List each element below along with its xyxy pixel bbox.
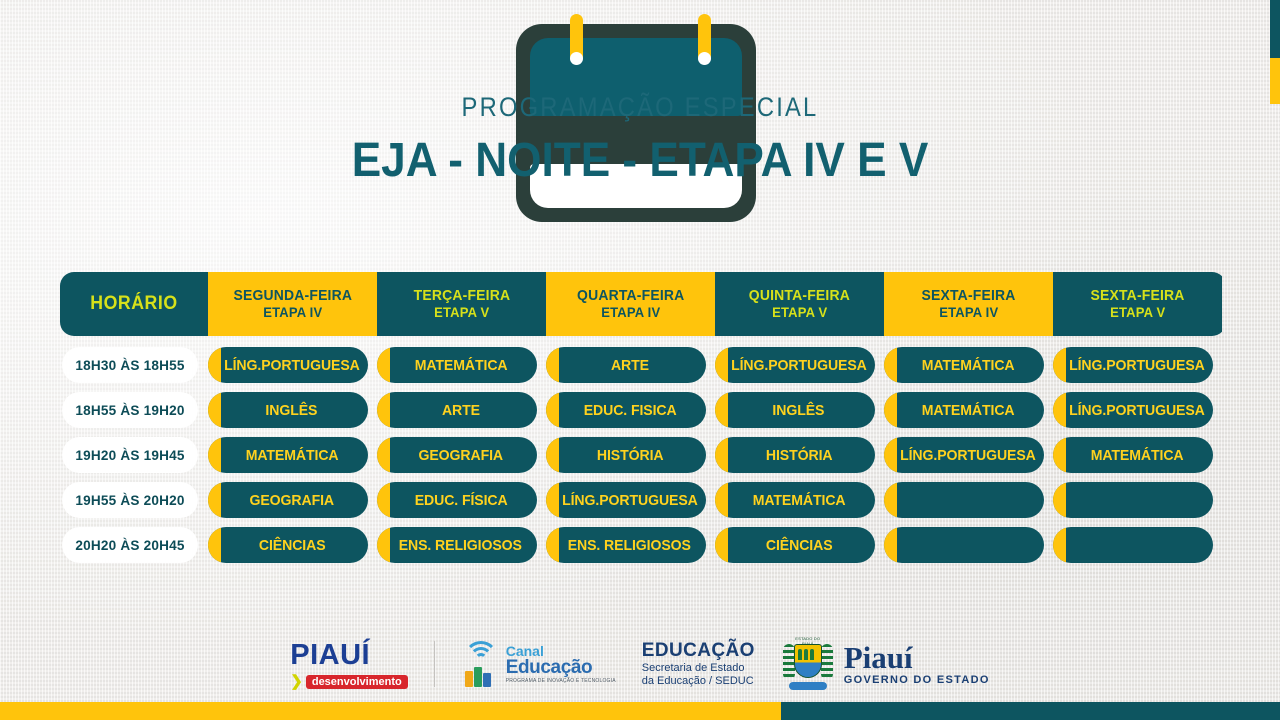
header-cell-terca: TERÇA-FEIRA ETAPA V (377, 272, 546, 336)
table-row: 18H30 ÀS 18H55 LÍNG.PORTUGUESA MATEMÁTIC… (60, 347, 1226, 383)
spiral-hole-right-icon (698, 52, 711, 65)
time-slot: 18H30 ÀS 18H55 (62, 347, 198, 383)
subject-label: GEOGRAFIA (242, 492, 334, 509)
subject-cell: ARTE (546, 347, 706, 383)
subject-label: CIÊNCIAS (251, 537, 325, 554)
subject-cell: LÍNG.PORTUGUESA (1053, 347, 1213, 383)
header-time-label: HORÁRIO (90, 293, 177, 314)
seduc-line3: da Educação / SEDUC (642, 675, 755, 688)
subtitle: PROGRAMAÇÃO ESPECIAL (77, 92, 1203, 123)
subject-cell: MATEMÁTICA (884, 347, 1044, 383)
palm-icon (804, 649, 808, 660)
logo-canal-educacao: Canal Educação PROGRAMA DE INOVAÇÃO E TE… (461, 641, 616, 687)
subject-cell: EDUC. FISICA (546, 392, 706, 428)
bottom-bar-yellow (0, 702, 781, 720)
seduc-line2: Secretaria de Estado (642, 662, 755, 675)
time-slot: 18H55 ÀS 19H20 (62, 392, 198, 428)
book-green-icon (474, 667, 482, 687)
edge-accent-teal (1270, 0, 1280, 58)
canal-line1: Canal (506, 644, 616, 658)
subject-label: ENS. RELIGIOSOS (392, 537, 523, 554)
subject-cell: GEOGRAFIA (377, 437, 537, 473)
seduc-line1: EDUCAÇÃO (642, 640, 755, 662)
governo-sub: GOVERNO DO ESTADO (844, 675, 990, 686)
subject-cell: MATEMÁTICA (1053, 437, 1213, 473)
subject-label: MATEMÁTICA (745, 492, 845, 509)
subject-label: MATEMÁTICA (1083, 447, 1183, 464)
subject-cell: INGLÊS (715, 392, 875, 428)
schedule-table: HORÁRIO SEGUNDA-FEIRA ETAPA IV TERÇA-FEI… (60, 272, 1226, 563)
subject-label: INGLÊS (765, 402, 824, 419)
subject-label: GEOGRAFIA (411, 447, 503, 464)
canal-line2: Educação (506, 658, 616, 677)
book-yellow-icon (465, 671, 473, 687)
wifi-arc-inner-icon (475, 653, 487, 665)
subject-label: LÍNG.PORTUGUESA (892, 447, 1035, 464)
table-row: 19H20 ÀS 19H45 MATEMÁTICA GEOGRAFIA HIST… (60, 437, 1226, 473)
bottom-bar-teal (781, 702, 1280, 720)
subject-cell: MATEMÁTICA (208, 437, 368, 473)
subject-cell: LÍNG.PORTUGUESA (208, 347, 368, 383)
table-row: 20H20 ÀS 20H45 CIÊNCIAS ENS. RELIGIOSOS … (60, 527, 1226, 563)
header-stage-label: ETAPA V (434, 305, 489, 321)
header-stage-label: ETAPA IV (939, 305, 998, 321)
ribbon-icon (789, 682, 827, 690)
logo-seduc: EDUCAÇÃO Secretaria de Estado da Educaçã… (642, 640, 755, 687)
subject-cell: GEOGRAFIA (208, 482, 368, 518)
palm-trees-icon (798, 649, 814, 660)
subject-cell: MATEMÁTICA (377, 347, 537, 383)
time-slot: 19H55 ÀS 20H20 (62, 482, 198, 518)
header-cell-sexta-iv: SEXTA-FEIRA ETAPA IV (884, 272, 1053, 336)
spiral-hole-left-icon (570, 52, 583, 65)
canal-wordmark: Canal Educação PROGRAMA DE INOVAÇÃO E TE… (506, 644, 616, 684)
header-stage-label: ETAPA IV (601, 305, 660, 321)
subject-cell: LÍNG.PORTUGUESA (884, 437, 1044, 473)
subject-label: ARTE (603, 357, 649, 374)
subject-label: EDUC. FISICA (576, 402, 676, 419)
subject-label: ENS. RELIGIOSOS (561, 537, 692, 554)
subject-cell-empty (884, 482, 1044, 518)
subject-label: CIÊNCIAS (758, 537, 832, 554)
subject-label: INGLÊS (258, 402, 317, 419)
logo-piaui-desenvolvimento: PIAUÍ ❯ desenvolvimento (290, 639, 407, 689)
footer-divider (434, 641, 435, 687)
subject-cell: EDUC. FÍSICA (377, 482, 537, 518)
header-cell-sexta-v: SEXTA-FEIRA ETAPA V (1053, 272, 1222, 336)
subject-label: HISTÓRIA (589, 447, 663, 464)
palm-icon (798, 649, 802, 660)
header-day-label: SEXTA-FEIRA (1090, 288, 1184, 305)
time-slot: 19H20 ÀS 19H45 (62, 437, 198, 473)
chevron-right-icon: ❯ (290, 674, 303, 689)
header-day-label: SEGUNDA-FEIRA (233, 288, 352, 305)
table-header-row: HORÁRIO SEGUNDA-FEIRA ETAPA IV TERÇA-FEI… (60, 272, 1226, 336)
header-stage-label: ETAPA V (1110, 305, 1165, 321)
subject-label: LÍNG.PORTUGUESA (1061, 402, 1204, 419)
subject-cell: ENS. RELIGIOSOS (377, 527, 537, 563)
subject-cell: HISTÓRIA (546, 437, 706, 473)
canal-wifi-book-icon (461, 641, 501, 687)
subject-cell: LÍNG.PORTUGUESA (715, 347, 875, 383)
book-blue-icon (483, 673, 491, 687)
subject-label: MATEMÁTICA (407, 357, 507, 374)
header-day-label: QUINTA-FEIRA (749, 288, 850, 305)
table-row: 18H55 ÀS 19H20 INGLÊS ARTE EDUC. FISICA … (60, 392, 1226, 428)
table-row: 19H55 ÀS 20H20 GEOGRAFIA EDUC. FÍSICA LÍ… (60, 482, 1226, 518)
subject-cell-empty (884, 527, 1044, 563)
subject-cell: ENS. RELIGIOSOS (546, 527, 706, 563)
subject-cell-empty (1053, 482, 1213, 518)
header-cell-segunda: SEGUNDA-FEIRA ETAPA IV (208, 272, 377, 336)
subject-label: LÍNG.PORTUGUESA (554, 492, 697, 509)
header-cell-time: HORÁRIO (60, 272, 208, 336)
subject-label: ARTE (434, 402, 480, 419)
header-stage-label: ETAPA IV (263, 305, 322, 321)
subject-cell: INGLÊS (208, 392, 368, 428)
piaui-wordmark: PIAUÍ (290, 639, 370, 672)
subject-label: MATEMÁTICA (914, 357, 1014, 374)
books-icon (465, 667, 491, 687)
page-title: EJA - NOITE - ETAPA IV E V (51, 133, 1229, 188)
subject-label: LÍNG.PORTUGUESA (1061, 357, 1204, 374)
subject-label: HISTÓRIA (758, 447, 832, 464)
governo-name: Piauí (844, 642, 990, 673)
desenvolvimento-tag: desenvolvimento (306, 675, 408, 689)
subject-label: MATEMÁTICA (238, 447, 338, 464)
bottom-bar (0, 702, 1280, 720)
header-day-label: TERÇA-FEIRA (413, 288, 510, 305)
subject-cell: HISTÓRIA (715, 437, 875, 473)
wreath-left-icon (783, 644, 795, 680)
logo-governo-piaui: ESTADO DO PIAUÍ Piauí GOVERNO DO ESTADO (781, 636, 990, 692)
title-block: PROGRAMAÇÃO ESPECIAL EJA - NOITE - ETAPA… (0, 92, 1280, 188)
subject-cell: CIÊNCIAS (715, 527, 875, 563)
subject-label: MATEMÁTICA (914, 402, 1014, 419)
palm-icon (810, 649, 814, 660)
governo-wordmark: Piauí GOVERNO DO ESTADO (844, 642, 990, 686)
subject-label: LÍNG.PORTUGUESA (216, 357, 359, 374)
header-day-label: QUARTA-FEIRA (577, 288, 684, 305)
brasao-icon: ESTADO DO PIAUÍ (781, 636, 835, 692)
wreath-right-icon (821, 644, 833, 680)
footer-logos: PIAUÍ ❯ desenvolvimento Canal Educação P… (0, 636, 1280, 692)
subject-label: EDUC. FÍSICA (407, 492, 507, 509)
subject-cell: MATEMÁTICA (715, 482, 875, 518)
subject-cell: MATEMÁTICA (884, 392, 1044, 428)
piaui-dev-subline: ❯ desenvolvimento (290, 674, 407, 689)
header-day-label: SEXTA-FEIRA (921, 288, 1015, 305)
brasao-motto: ESTADO DO PIAUÍ (792, 636, 824, 644)
header-cell-quinta: QUINTA-FEIRA ETAPA V (715, 272, 884, 336)
header-stage-label: ETAPA V (772, 305, 827, 321)
subject-cell: LÍNG.PORTUGUESA (546, 482, 706, 518)
subject-cell: CIÊNCIAS (208, 527, 368, 563)
subject-cell: ARTE (377, 392, 537, 428)
table-body: 18H30 ÀS 18H55 LÍNG.PORTUGUESA MATEMÁTIC… (60, 347, 1226, 563)
canal-line3: PROGRAMA DE INOVAÇÃO E TECNOLOGIA (506, 679, 616, 684)
subject-label: LÍNG.PORTUGUESA (723, 357, 866, 374)
subject-cell-empty (1053, 527, 1213, 563)
subject-cell: LÍNG.PORTUGUESA (1053, 392, 1213, 428)
header-cell-quarta: QUARTA-FEIRA ETAPA IV (546, 272, 715, 336)
time-slot: 20H20 ÀS 20H45 (62, 527, 198, 563)
